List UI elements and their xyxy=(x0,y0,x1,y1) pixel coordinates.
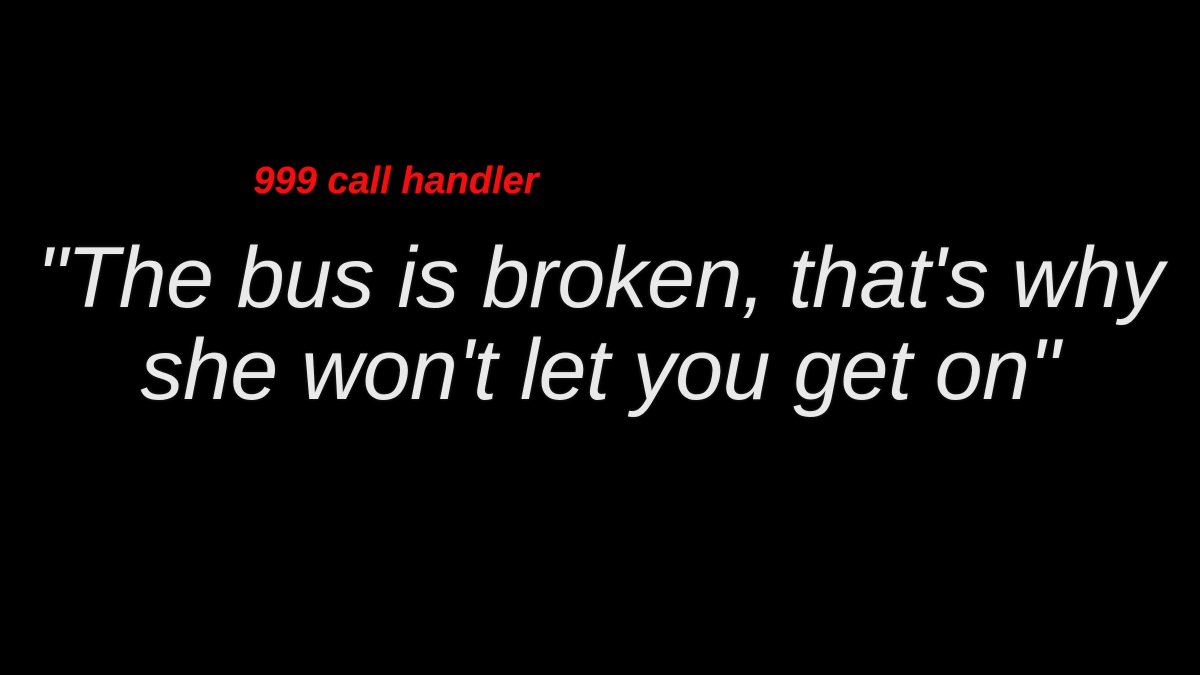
subtitle-frame: 999 call handler "The bus is broken, tha… xyxy=(0,0,1200,675)
subtitle-line-1: "The bus is broken, that's why xyxy=(0,232,1200,324)
subtitle-line-2: she won't let you get on" xyxy=(0,324,1200,416)
speaker-attribution-label: 999 call handler xyxy=(0,158,1200,204)
subtitle-quote: "The bus is broken, that's why she won't… xyxy=(0,232,1200,416)
